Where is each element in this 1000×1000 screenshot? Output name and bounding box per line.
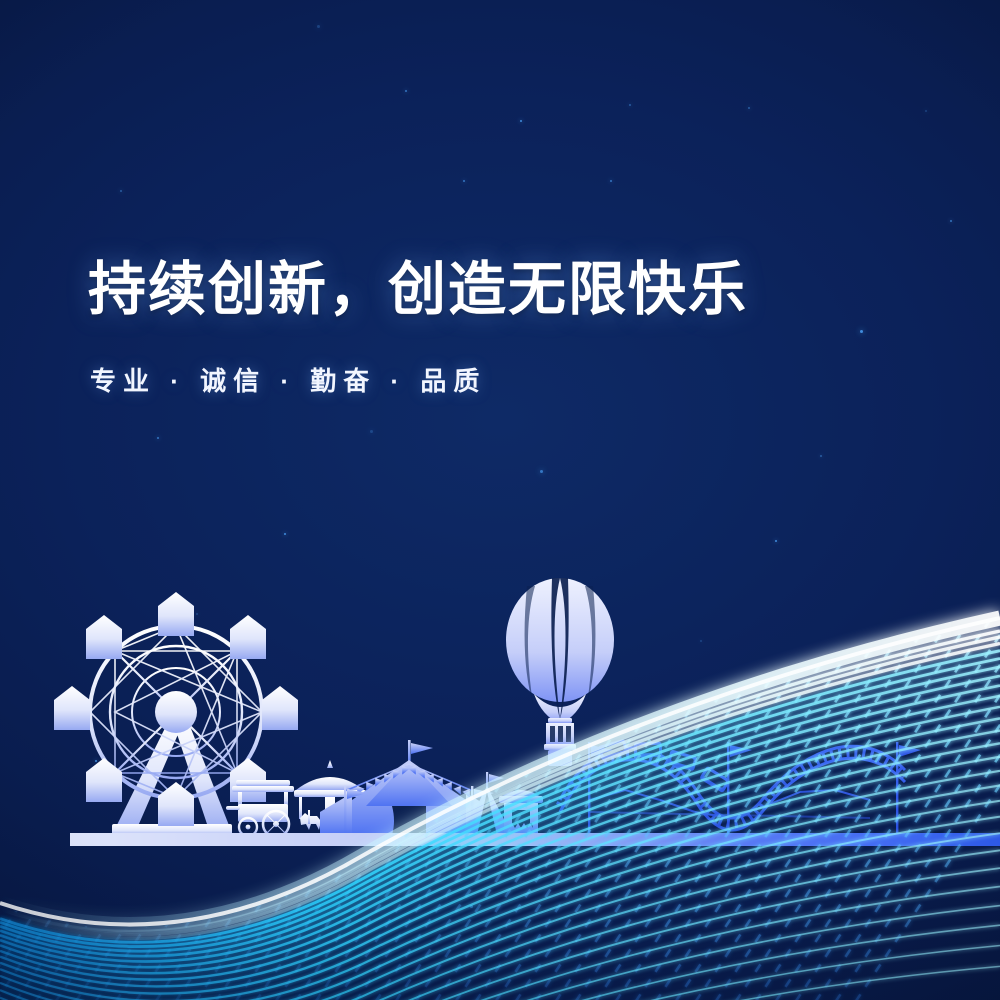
wave-mesh-line [530, 560, 830, 1000]
banner-canvas: 持续创新，创造无限快乐 专业 · 诚信 · 勤奋 · 品质 [0, 0, 1000, 1000]
wave-mesh-line [310, 560, 610, 1000]
page-title: 持续创新，创造无限快乐 [88, 258, 748, 323]
wave-curves [0, 631, 1000, 1000]
tagline: 专业 · 诚信 · 勤奋 · 品质 [90, 361, 748, 398]
text-block: 持续创新，创造无限快乐 专业 · 诚信 · 勤奋 · 品质 [88, 258, 748, 398]
wave-mesh-line [430, 560, 730, 1000]
neon-mesh-wave [0, 0, 1000, 1000]
